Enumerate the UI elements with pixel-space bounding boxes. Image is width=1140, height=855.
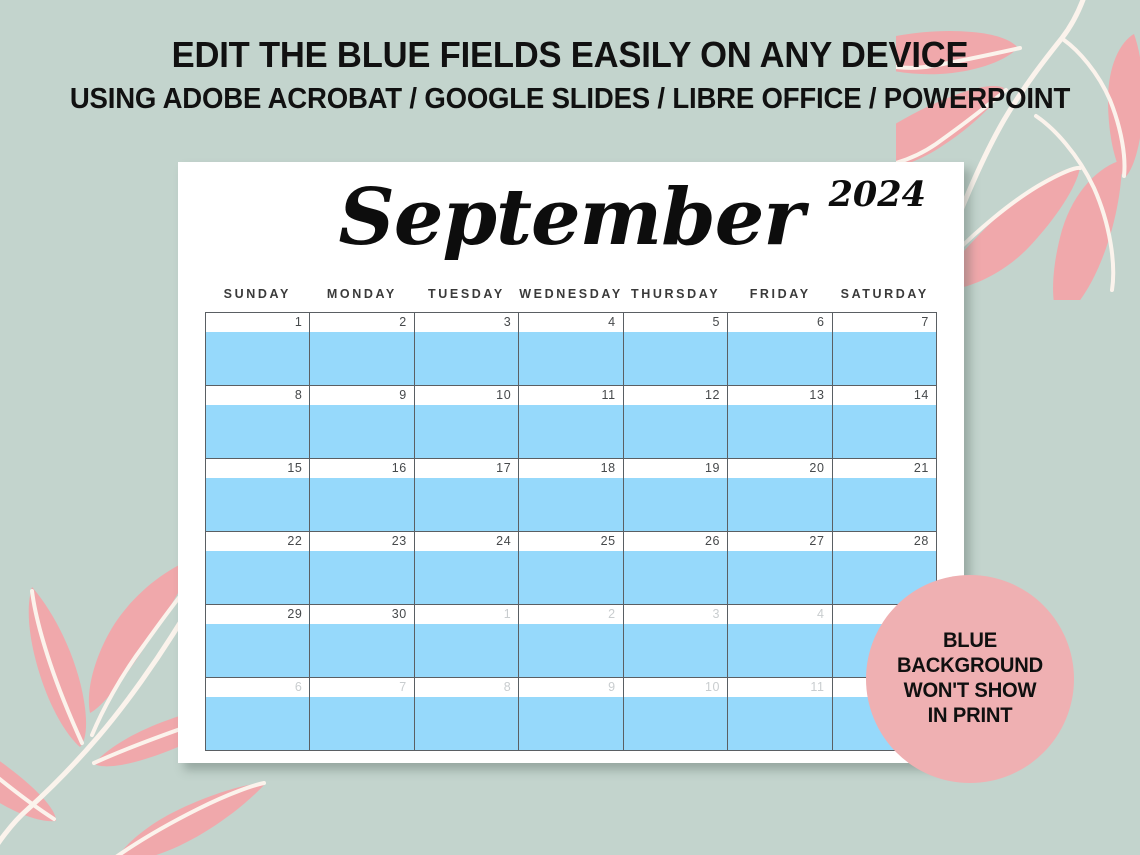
day-editable-field[interactable] [624,478,727,531]
weekday-header-monday: MONDAY [310,287,415,301]
day-number: 8 [206,386,309,405]
day-cell: 8 [206,386,310,459]
weekday-header-saturday: SATURDAY [832,287,937,301]
day-number: 28 [833,532,936,551]
day-editable-field[interactable] [624,624,727,677]
print-note-line: IN PRINT [897,704,1043,729]
day-cell: 24 [415,532,519,605]
day-number: 27 [728,532,831,551]
print-note-line: BACKGROUND [897,654,1043,679]
day-number: 3 [624,605,727,624]
day-number: 2 [310,313,413,332]
day-cell: 12 [624,386,728,459]
promo-headline-secondary: USING ADOBE ACROBAT / GOOGLE SLIDES / LI… [29,83,1112,116]
day-cell: 27 [728,532,832,605]
day-editable-field[interactable] [310,405,413,458]
week-row: 22232425262728 [206,532,937,605]
day-editable-field[interactable] [728,551,831,604]
day-cell: 14 [833,386,937,459]
day-number: 22 [206,532,309,551]
day-cell: 26 [624,532,728,605]
day-editable-field[interactable] [833,405,936,458]
print-note-line: BLUE [897,629,1043,654]
day-editable-field[interactable] [728,478,831,531]
day-number: 2 [519,605,622,624]
day-editable-field[interactable] [624,405,727,458]
day-editable-field[interactable] [728,405,831,458]
day-number: 25 [519,532,622,551]
day-number: 17 [415,459,518,478]
day-editable-field[interactable] [206,405,309,458]
day-number: 18 [519,459,622,478]
day-number: 23 [310,532,413,551]
day-number: 7 [310,678,413,697]
day-cell: 7 [833,313,937,386]
print-note-text: BLUEBACKGROUNDWON'T SHOWIN PRINT [886,629,1055,729]
day-cell: 2 [310,313,414,386]
day-cell: 4 [728,605,832,678]
day-number: 29 [206,605,309,624]
day-cell: 9 [519,678,623,751]
day-number: 21 [833,459,936,478]
day-number: 9 [519,678,622,697]
day-number: 4 [728,605,831,624]
day-editable-field[interactable] [415,551,518,604]
day-number: 10 [415,386,518,405]
day-number: 7 [833,313,936,332]
day-cell: 7 [310,678,414,751]
day-cell: 6 [728,313,832,386]
day-cell: 1 [206,313,310,386]
week-row: 891011121314 [206,386,937,459]
day-cell: 25 [519,532,623,605]
day-cell: 10 [624,678,728,751]
day-editable-field[interactable] [415,624,518,677]
day-cell: 22 [206,532,310,605]
day-cell: 6 [206,678,310,751]
day-number: 12 [624,386,727,405]
day-editable-field[interactable] [833,478,936,531]
day-number: 6 [206,678,309,697]
day-number: 1 [415,605,518,624]
day-cell: 5 [624,313,728,386]
screenshot-canvas: EDIT THE BLUE FIELDS EASILY ON ANY DEVIC… [0,0,1140,855]
day-number: 11 [519,386,622,405]
week-row: 6789101112 [206,678,937,751]
day-editable-field[interactable] [415,478,518,531]
day-cell: 15 [206,459,310,532]
day-editable-field[interactable] [519,332,622,385]
day-editable-field[interactable] [728,624,831,677]
day-number: 11 [728,678,831,697]
day-number: 14 [833,386,936,405]
day-cell: 8 [415,678,519,751]
day-cell: 11 [728,678,832,751]
day-number: 8 [415,678,518,697]
day-number: 10 [624,678,727,697]
day-editable-field[interactable] [519,624,622,677]
print-note-line: WON'T SHOW [897,679,1043,704]
day-cell: 9 [310,386,414,459]
week-row: 1234567 [206,313,937,386]
day-cell: 23 [310,532,414,605]
calendar-header: September 2024 [178,162,964,280]
day-number: 24 [415,532,518,551]
day-cell: 4 [519,313,623,386]
day-editable-field[interactable] [519,478,622,531]
day-cell: 13 [728,386,832,459]
day-number: 16 [310,459,413,478]
weekday-header-row: SUNDAYMONDAYTUESDAYWEDNESDAYTHURSDAYFRID… [205,287,937,301]
weekday-header-thursday: THURSDAY [623,287,728,301]
day-editable-field[interactable] [415,697,518,750]
day-cell: 11 [519,386,623,459]
day-editable-field[interactable] [833,332,936,385]
week-row: 293012345 [206,605,937,678]
day-editable-field[interactable] [310,697,413,750]
weekday-header-sunday: SUNDAY [205,287,310,301]
day-editable-field[interactable] [310,478,413,531]
day-editable-field[interactable] [206,697,309,750]
day-cell: 30 [310,605,414,678]
day-number: 1 [206,313,309,332]
day-editable-field[interactable] [206,551,309,604]
day-cell: 16 [310,459,414,532]
week-row: 15161718192021 [206,459,937,532]
day-cell: 29 [206,605,310,678]
day-cell: 3 [415,313,519,386]
weekday-header-wednesday: WEDNESDAY [519,287,624,301]
day-cell: 21 [833,459,937,532]
day-cell: 17 [415,459,519,532]
day-editable-field[interactable] [624,697,727,750]
day-number: 3 [415,313,518,332]
day-number: 19 [624,459,727,478]
day-number: 13 [728,386,831,405]
day-number: 4 [519,313,622,332]
day-number: 30 [310,605,413,624]
day-editable-field[interactable] [519,405,622,458]
day-editable-field[interactable] [206,332,309,385]
day-editable-field[interactable] [624,551,727,604]
day-cell: 3 [624,605,728,678]
day-editable-field[interactable] [624,332,727,385]
day-editable-field[interactable] [206,478,309,531]
day-editable-field[interactable] [310,332,413,385]
day-number: 5 [624,313,727,332]
day-editable-field[interactable] [206,624,309,677]
day-number: 6 [728,313,831,332]
weekday-header-tuesday: TUESDAY [414,287,519,301]
day-editable-field[interactable] [310,551,413,604]
day-editable-field[interactable] [728,697,831,750]
day-cell: 19 [624,459,728,532]
day-editable-field[interactable] [415,405,518,458]
day-cell: 2 [519,605,623,678]
promo-headline-primary: EDIT THE BLUE FIELDS EASILY ON ANY DEVIC… [23,34,1117,76]
day-editable-field[interactable] [415,332,518,385]
day-cell: 18 [519,459,623,532]
print-note-badge: BLUEBACKGROUNDWON'T SHOWIN PRINT [866,575,1074,783]
day-editable-field[interactable] [519,551,622,604]
day-number: 26 [624,532,727,551]
calendar-card: September 2024 SUNDAYMONDAYTUESDAYWEDNES… [178,162,964,763]
year-label: 2024 [829,174,926,215]
calendar-grid: 1234567891011121314151617181920212223242… [205,312,937,751]
day-editable-field[interactable] [310,624,413,677]
day-number: 20 [728,459,831,478]
weekday-header-friday: FRIDAY [728,287,833,301]
day-number: 9 [310,386,413,405]
day-number: 15 [206,459,309,478]
day-cell: 20 [728,459,832,532]
day-cell: 10 [415,386,519,459]
day-editable-field[interactable] [728,332,831,385]
day-editable-field[interactable] [519,697,622,750]
day-cell: 1 [415,605,519,678]
